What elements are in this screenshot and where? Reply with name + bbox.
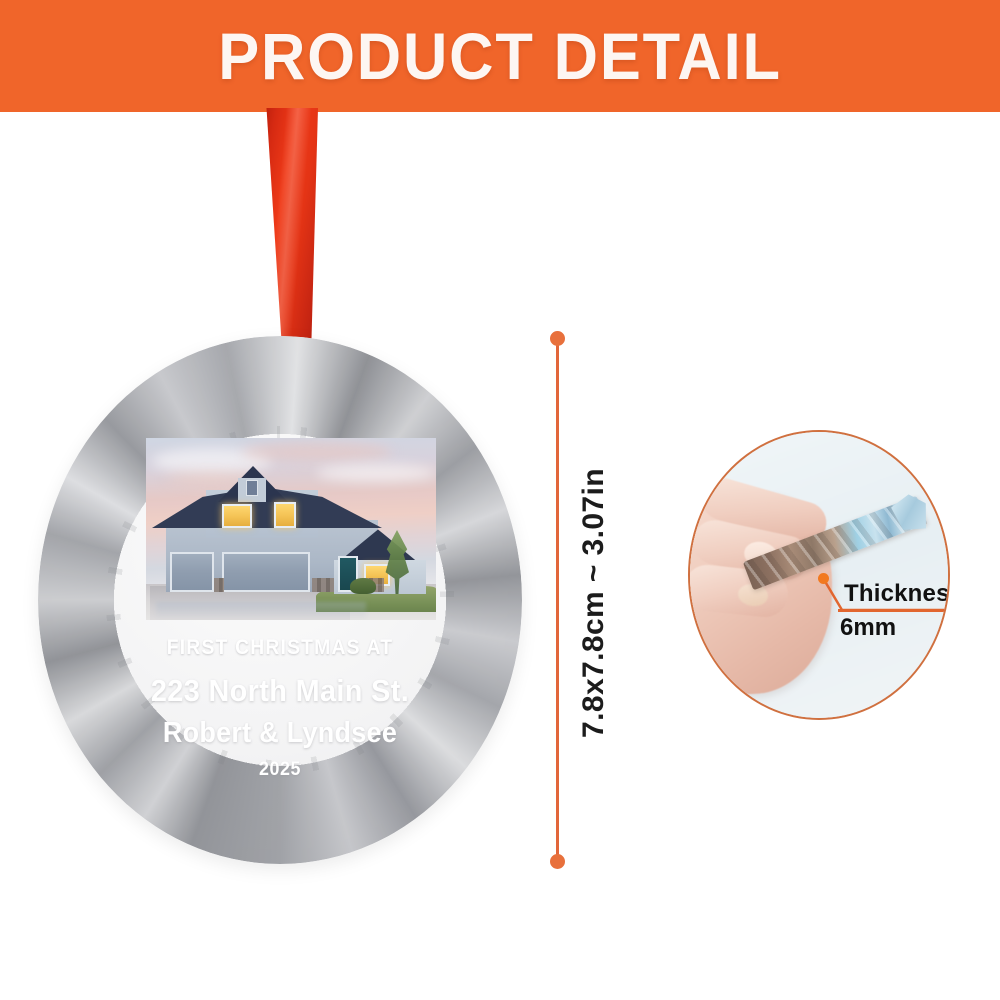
ornament: FIRST CHRISTMAS AT 223 North Main St. Ro… [38, 336, 522, 864]
size-label: 7.8x7.8cm ~ 3.07in [577, 468, 611, 738]
dimension-endpoint-bottom [550, 854, 565, 869]
size-dimension-indicator: 7.8x7.8cm ~ 3.07in [548, 330, 638, 876]
thickness-title: Thickness [838, 580, 950, 608]
header-banner: PRODUCT DETAIL [0, 0, 1000, 112]
page-title: PRODUCT DETAIL [218, 18, 782, 94]
engraved-year-line: 2025 [53, 759, 508, 781]
dimension-endpoint-top [550, 331, 565, 346]
dimension-line [556, 338, 559, 862]
thickness-callout-label: Thickness 6mm [838, 580, 950, 642]
house-photo [146, 438, 436, 620]
thickness-value: 6mm [838, 614, 950, 642]
thickness-callout-dot [818, 573, 829, 584]
thickness-closeup-inset: Thickness 6mm [688, 430, 950, 720]
watercolor-fade-edge [146, 438, 436, 620]
thickness-underline [838, 609, 950, 612]
engraved-names-line: Robert & Lyndsee [55, 717, 505, 750]
engraved-occasion-line: FIRST CHRISTMAS AT [57, 636, 502, 660]
engraved-text-block: FIRST CHRISTMAS AT 223 North Main St. Ro… [38, 636, 522, 781]
engraved-address-line: 223 North Main St. [55, 673, 505, 709]
product-detail-page: PRODUCT DETAIL [0, 0, 1000, 1000]
